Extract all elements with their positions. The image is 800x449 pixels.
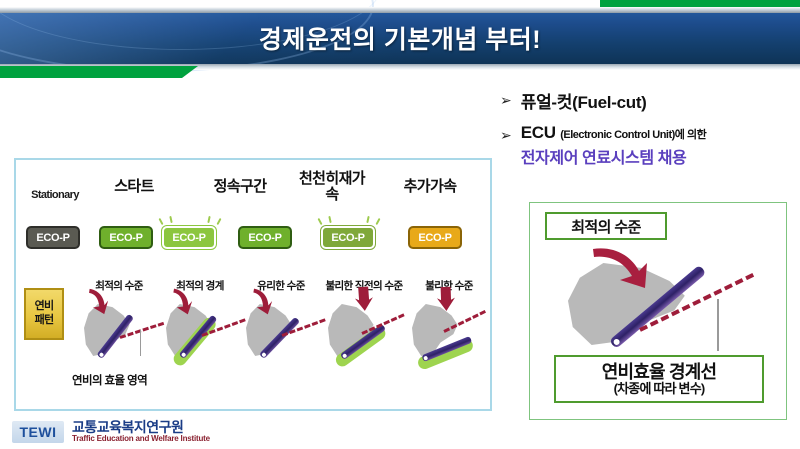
pressure-arrow-icon: [590, 245, 652, 289]
bullet-arrow-icon: ➢: [500, 128, 512, 142]
logo-mark: TEWI: [12, 421, 64, 443]
bullet-body: ECU (Electronic Control Unit)에 의한 전자제어 연…: [521, 123, 800, 168]
reference-vertical-line: [140, 330, 141, 356]
eco-p-badge-slow-reaccel: ECO-P: [321, 226, 375, 249]
bullet-main-text: 퓨얼-컷(Fuel-cut): [521, 93, 647, 112]
column-head-extra-accel: 추가가속: [390, 179, 470, 195]
pressure-arrow-icon: [351, 285, 375, 312]
efficiency-boundary-label-line2: (차종에 따라 변수): [614, 382, 705, 397]
fuel-pattern-label-box: 연비 패턴: [24, 288, 64, 340]
pressure-arrow-icon: [84, 287, 109, 316]
eco-p-badge-start: ECO-P: [99, 226, 153, 249]
bullet-highlight-text: 전자제어 연료시스템 채용: [521, 144, 800, 168]
badge-glow-icon: [156, 216, 226, 226]
efficiency-boundary-diagram-panel: 최적의 수준 연비효율 경계선 (차종에 따라 변수): [529, 202, 787, 420]
badge-glow-icon: [315, 216, 385, 226]
eco-p-badge-stationary: ECO-P: [26, 226, 80, 249]
pedal-illustration-favorable-level: [244, 294, 324, 362]
bullet-body: 퓨얼-컷(Fuel-cut): [521, 88, 800, 113]
page-title: 경제운전의 기본개념 부터!: [0, 20, 800, 56]
bullet-secondary-text: (Electronic Control Unit)에 의한: [560, 129, 706, 141]
caption-optimal-edge: 최적의 경계: [155, 278, 245, 293]
bullet-item-fuel-cut: ➢ 퓨얼-컷(Fuel-cut): [500, 88, 800, 113]
bullet-list: ➢ 퓨얼-컷(Fuel-cut) ➢ ECU (Electronic Contr…: [500, 88, 800, 178]
column-head-start: 스타트: [96, 179, 172, 195]
pressure-arrow-icon: [248, 286, 274, 315]
banner-green-accent-bottom: [0, 66, 182, 78]
footer-logo: TEWI 교통교육복지연구원 Traffic Education and Wel…: [12, 420, 210, 443]
pedal-illustration-optimal-level: [82, 294, 162, 362]
column-head-stationary: Stationary: [24, 190, 86, 202]
banner-silver-stripe-top: [0, 7, 800, 13]
efficiency-boundary-label-box: 연비효율 경계선 (차종에 따라 변수): [554, 355, 764, 403]
header-banner: 경제운전의 기본개념 부터!: [0, 0, 800, 78]
pressure-arrow-icon: [168, 286, 194, 315]
organization-name-kr: 교통교육복지연구원: [72, 420, 210, 435]
optimal-level-label-box: 최적의 수준: [545, 212, 667, 240]
eco-p-badge-optimal-edge: ECO-P: [162, 226, 216, 249]
bullet-arrow-icon: ➢: [500, 93, 512, 107]
reference-vertical-line: [717, 299, 719, 351]
organization-name-en: Traffic Education and Welfare Institute: [72, 435, 210, 443]
fuel-pattern-diagram-panel: Stationary 스타트 정속구간 천천히재가속 추가가속 ECO-P EC…: [14, 158, 492, 411]
eco-p-badge-cruise: ECO-P: [238, 226, 292, 249]
column-head-cruise: 정속구간: [198, 179, 282, 195]
bullet-main-text: ECU: [521, 123, 556, 142]
pedal-illustration-just-before-unfavorable: [326, 294, 406, 362]
bullet-item-ecu: ➢ ECU (Electronic Control Unit)에 의한 전자제어…: [500, 123, 800, 168]
logo-text: 교통교육복지연구원 Traffic Education and Welfare …: [72, 420, 210, 443]
column-head-slow-reaccel: 천천히재가속: [296, 171, 368, 203]
pressure-arrow-icon: [434, 286, 457, 313]
eco-p-badge-extra-accel: ECO-P: [408, 226, 462, 249]
fuel-pattern-label-line2: 패턴: [35, 314, 54, 328]
pedal-illustration-optimal-edge: [164, 294, 244, 362]
efficiency-region-note: 연비의 효율 영역: [72, 372, 147, 388]
fuel-pattern-label-line1: 연비: [35, 300, 54, 314]
efficiency-boundary-label-line1: 연비효율 경계선: [602, 362, 717, 382]
pedal-illustration-unfavorable-level: [410, 294, 490, 362]
